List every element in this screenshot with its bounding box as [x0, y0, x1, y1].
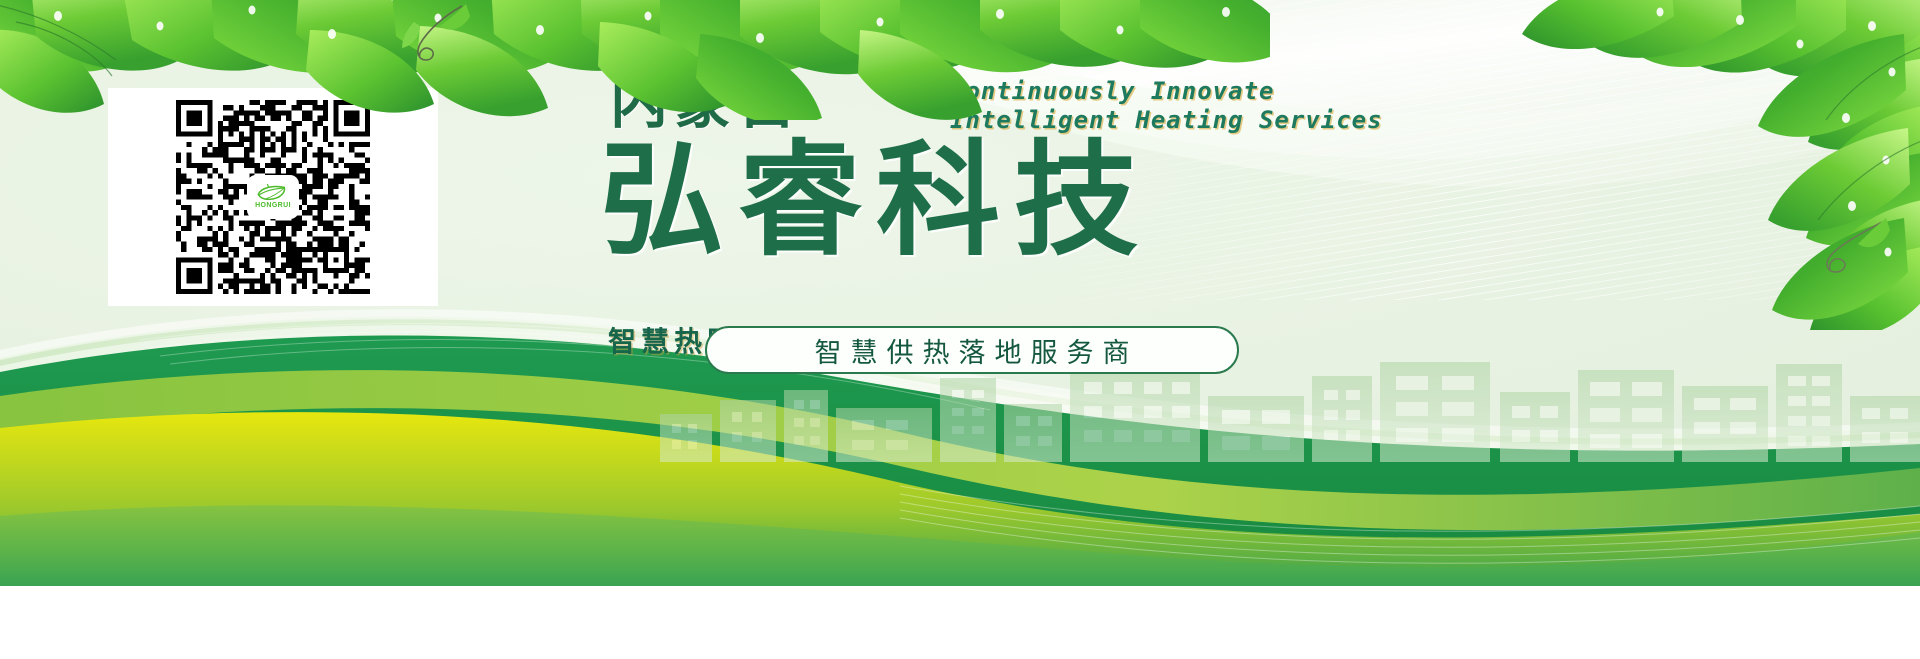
qr-code-panel[interactable]: HONGRUI — [108, 88, 438, 306]
leaf-icon — [256, 184, 290, 201]
leaves-top-decor — [0, 0, 1270, 120]
promo-banner: HONGRUI 内蒙古 Continuously Innovate Intell… — [0, 0, 1920, 586]
brand-title: 弘睿科技 — [600, 134, 1152, 268]
hongrui-logo: HONGRUI — [249, 177, 297, 217]
banner-page: HONGRUI 内蒙古 Continuously Innovate Intell… — [0, 0, 1920, 659]
hongrui-logo-text: HONGRUI — [255, 202, 291, 210]
service-badge: 智慧供热落地服务商 — [705, 326, 1239, 374]
service-badge-label: 智慧供热落地服务商 — [806, 331, 1139, 370]
tendril-right-decor — [1812, 218, 1892, 284]
tendril-left-decor — [400, 4, 480, 70]
